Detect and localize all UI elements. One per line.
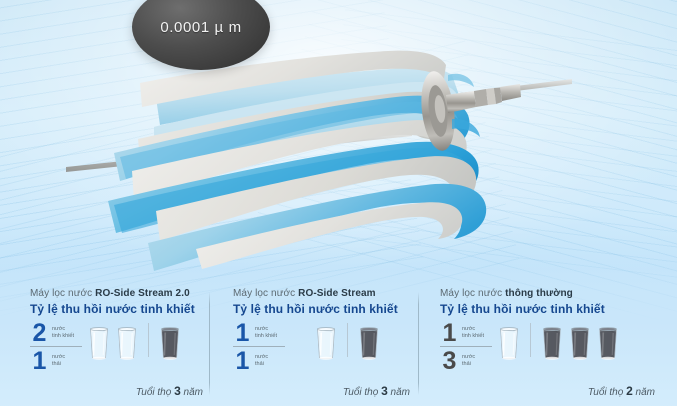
- lifespan-suffix: năm: [633, 387, 655, 398]
- glass-separator: [347, 323, 348, 357]
- glass-group: [88, 321, 181, 360]
- ratio-denominator: 1: [233, 350, 252, 372]
- caption-line-2: thải: [255, 361, 264, 367]
- ratio-row: 1 nước tinh khiết 3 nước thải: [440, 321, 677, 372]
- caption-line-2: thải: [462, 361, 471, 367]
- comparison-column-ro-side-stream: Máy lọc nước RO-Side Stream Tỷ lệ thu hồ…: [209, 282, 418, 406]
- ratio-denominator-caption: nước thải: [49, 350, 65, 367]
- recovery-headline: Tỷ lệ thu hồi nước tinh khiết: [233, 302, 418, 316]
- ratio-numerator-line: 2 nước tinh khiết: [30, 322, 88, 344]
- lifespan-suffix: năm: [388, 387, 410, 398]
- ratio-denominator: 1: [30, 350, 49, 372]
- recovery-headline: Tỷ lệ thu hồi nước tinh khiết: [440, 302, 677, 316]
- ratio-fraction: 2 nước tinh khiết 1 nước thải: [30, 321, 88, 372]
- ratio-denominator-caption: nước thải: [252, 350, 268, 367]
- clean-glass-icon: [498, 326, 520, 360]
- lifespan-value: 3: [174, 384, 181, 398]
- clean-glass-icon: [116, 326, 138, 360]
- ratio-fraction: 1 nước tinh khiết 3 nước thải: [440, 321, 498, 372]
- brand-name: RO-Side Stream: [298, 288, 376, 299]
- brand-prefix: Máy lọc nước: [30, 288, 95, 299]
- ratio-row: 1 nước tinh khiết 1 nước thải: [233, 321, 418, 372]
- ratio-numerator: 1: [440, 322, 459, 344]
- ratio-numerator-caption: nước tinh khiết: [252, 322, 277, 339]
- brand-name: RO-Side Stream 2.0: [95, 288, 190, 299]
- ratio-numerator: 1: [233, 322, 252, 344]
- ratio-denominator-line: 1 nước thải: [233, 350, 291, 372]
- lifespan-label: Tuổi thọ 3 năm: [136, 384, 203, 398]
- column-divider: [418, 292, 419, 395]
- lifespan-prefix: Tuổi thọ: [343, 387, 381, 398]
- infographic-stage: 0.0001 µ m Máy lọc nước RO-Side Stream 2…: [0, 0, 677, 406]
- glass-separator: [148, 323, 149, 357]
- caption-line-1: nước: [462, 326, 475, 332]
- ratio-denominator-line: 1 nước thải: [30, 350, 88, 372]
- lifespan-label: Tuổi thọ 2 năm: [588, 384, 655, 398]
- waste-glass-icon: [541, 326, 563, 360]
- brand-prefix: Máy lọc nước: [440, 288, 505, 299]
- caption-line-1: nước: [255, 326, 268, 332]
- caption-line-1: nước: [52, 354, 65, 360]
- column-divider: [209, 292, 210, 395]
- caption-line-2: thải: [52, 361, 61, 367]
- caption-line-2: tinh khiết: [52, 333, 74, 339]
- ratio-numerator-line: 1 nước tinh khiết: [233, 322, 291, 344]
- caption-line-2: tinh khiết: [462, 333, 484, 339]
- brand-name: thông thường: [505, 288, 573, 299]
- lifespan-value: 3: [381, 384, 388, 398]
- glass-group: [315, 321, 380, 360]
- brand-line: Máy lọc nước thông thường: [440, 288, 677, 299]
- comparison-column-ro-side-stream-2: Máy lọc nước RO-Side Stream 2.0 Tỷ lệ th…: [0, 282, 209, 406]
- lifespan-prefix: Tuổi thọ: [136, 387, 174, 398]
- ratio-denominator-line: 3 nước thải: [440, 350, 498, 372]
- lifespan-value: 2: [626, 384, 633, 398]
- ro-membrane-illustration: [60, 35, 580, 275]
- brand-line: Máy lọc nước RO-Side Stream: [233, 288, 418, 299]
- caption-line-2: tinh khiết: [255, 333, 277, 339]
- comparison-column-thong-thuong: Máy lọc nước thông thường Tỷ lệ thu hồi …: [418, 282, 677, 406]
- ratio-numerator-line: 1 nước tinh khiết: [440, 322, 498, 344]
- ratio-numerator-caption: nước tinh khiết: [459, 322, 484, 339]
- waste-glass-icon: [597, 326, 619, 360]
- caption-line-1: nước: [462, 354, 475, 360]
- ratio-row: 2 nước tinh khiết 1 nước thải: [30, 321, 209, 372]
- ratio-denominator-caption: nước thải: [459, 350, 475, 367]
- particle-size-label: 0.0001 µ m: [160, 19, 241, 36]
- ratio-numerator: 2: [30, 322, 49, 344]
- caption-line-1: nước: [52, 326, 65, 332]
- lifespan-label: Tuổi thọ 3 năm: [343, 384, 410, 398]
- ratio-numerator-caption: nước tinh khiết: [49, 322, 74, 339]
- glass-group: [498, 321, 619, 360]
- lifespan-suffix: năm: [181, 387, 203, 398]
- waste-glass-icon: [569, 326, 591, 360]
- glass-separator: [530, 323, 531, 357]
- ratio-denominator: 3: [440, 350, 459, 372]
- clean-glass-icon: [315, 326, 337, 360]
- comparison-section: Máy lọc nước RO-Side Stream 2.0 Tỷ lệ th…: [0, 282, 677, 406]
- brand-line: Máy lọc nước RO-Side Stream 2.0: [30, 288, 209, 299]
- waste-glass-icon: [159, 326, 181, 360]
- brand-prefix: Máy lọc nước: [233, 288, 298, 299]
- caption-line-1: nước: [255, 354, 268, 360]
- lifespan-prefix: Tuổi thọ: [588, 387, 626, 398]
- waste-glass-icon: [358, 326, 380, 360]
- ratio-fraction: 1 nước tinh khiết 1 nước thải: [233, 321, 291, 372]
- recovery-headline: Tỷ lệ thu hồi nước tinh khiết: [30, 302, 209, 316]
- clean-glass-icon: [88, 326, 110, 360]
